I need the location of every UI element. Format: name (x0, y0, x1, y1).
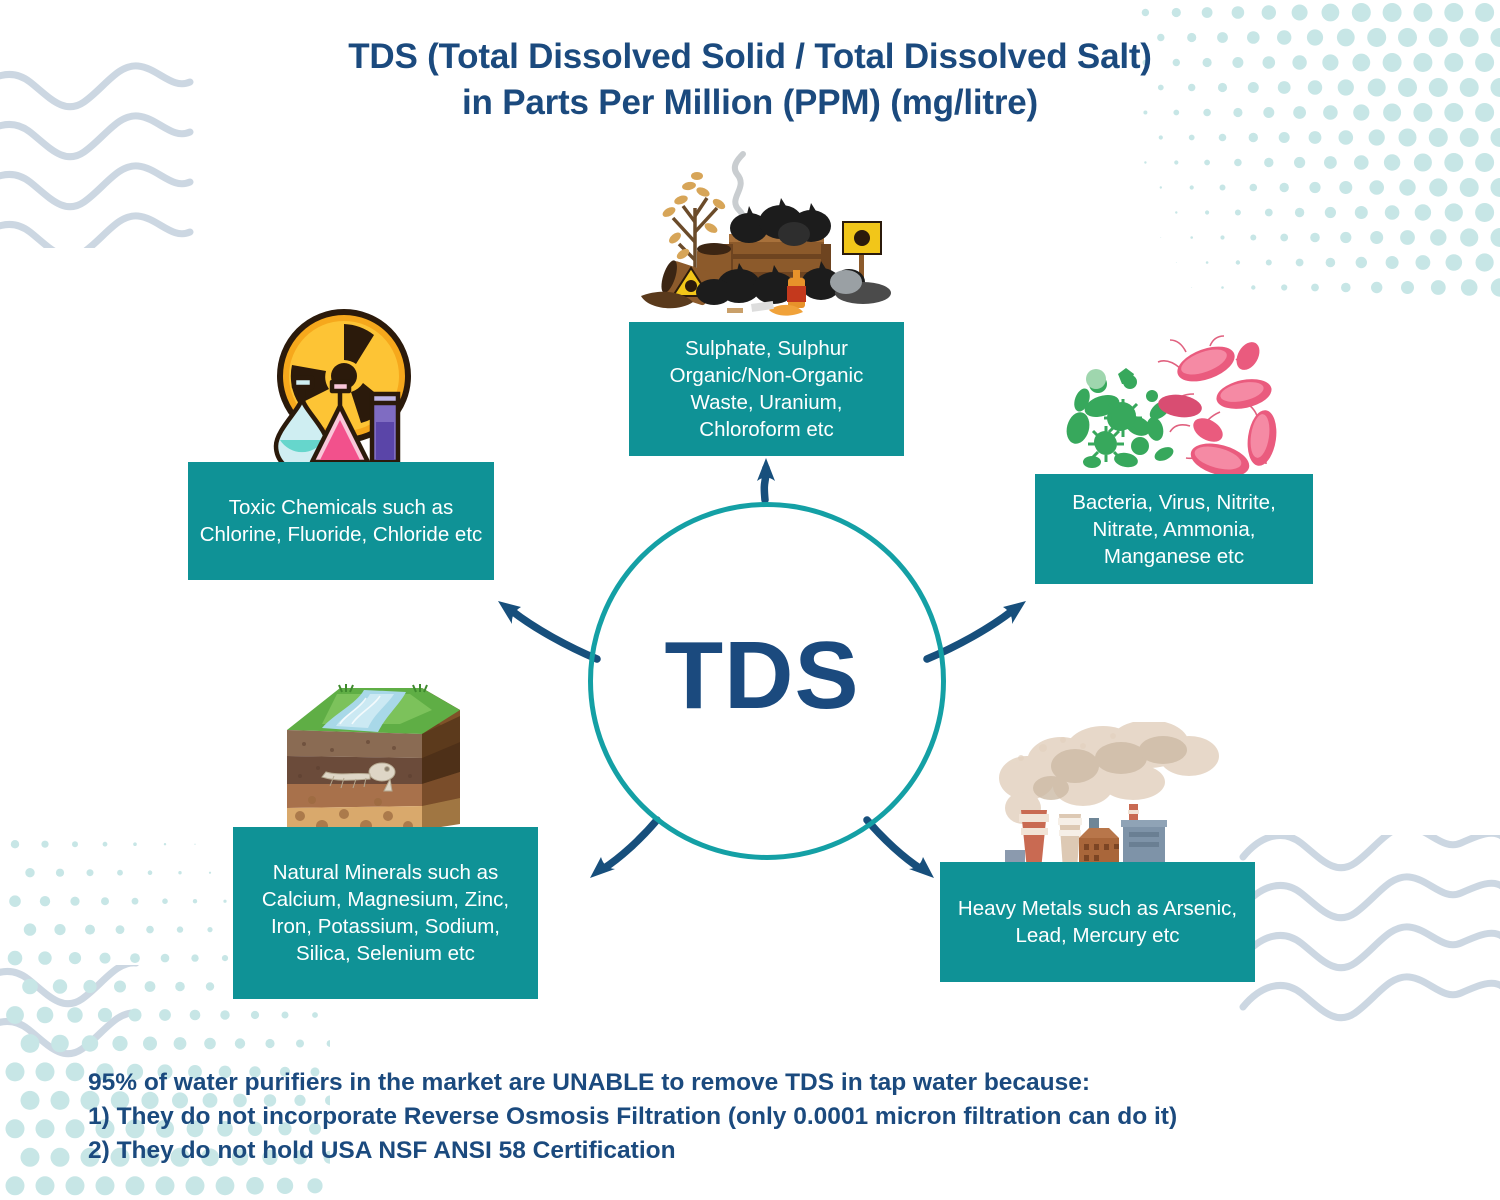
radioactive-flasks-icon (266, 304, 426, 474)
garbage-dump-icon (631, 150, 901, 325)
arrow-upleft-chemicals (498, 601, 597, 659)
factory-pollution-icon (963, 722, 1223, 882)
infographic-canvas: TDS (Total Dissolved Solid / Total Disso… (0, 0, 1500, 1200)
footer-note: 95% of water purifiers in the market are… (88, 1066, 1418, 1168)
soil-cross-section-icon (282, 680, 502, 840)
arrow-up-waste (757, 458, 775, 500)
bacteria-germs-icon (1060, 334, 1280, 479)
label-box-natural-minerals[interactable]: Natural Minerals such as Calcium, Magnes… (233, 827, 538, 999)
footer-note-line-1: 95% of water purifiers in the market are… (88, 1066, 1418, 1100)
label-box-bacteria-virus[interactable]: Bacteria, Virus, Nitrite, Nitrate, Ammon… (1035, 474, 1313, 584)
footer-note-line-2: 1) They do not incorporate Reverse Osmos… (88, 1100, 1418, 1134)
label-box-sulphate-waste[interactable]: Sulphate, Sulphur Organic/Non-Organic Wa… (629, 322, 904, 456)
label-box-heavy-metals[interactable]: Heavy Metals such as Arsenic, Lead, Merc… (940, 862, 1255, 982)
label-box-toxic-chemicals[interactable]: Toxic Chemicals such as Chlorine, Fluori… (188, 462, 494, 580)
footer-note-line-3: 2) They do not hold USA NSF ANSI 58 Cert… (88, 1134, 1418, 1168)
center-label: TDS (588, 502, 936, 850)
